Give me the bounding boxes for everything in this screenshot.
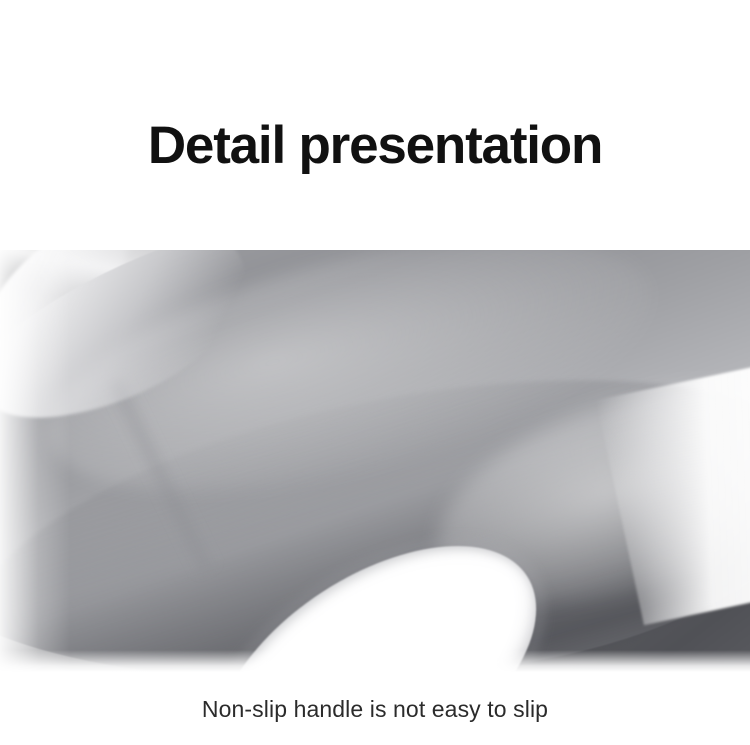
photo-caption-text: Non-slip handle is not easy to slip	[202, 696, 548, 724]
product-photo	[0, 250, 750, 672]
page-title: Detail presentation	[0, 118, 750, 174]
product-photo-composition	[0, 250, 750, 672]
photo-left-fade	[0, 250, 70, 672]
photo-bottom-fade	[0, 650, 750, 672]
photo-caption: Non-slip handle is not easy to slip	[0, 696, 750, 724]
page-title-text: Detail presentation	[148, 118, 602, 174]
detail-presentation-page: Detail presentation Non-slip handle is n…	[0, 0, 750, 745]
